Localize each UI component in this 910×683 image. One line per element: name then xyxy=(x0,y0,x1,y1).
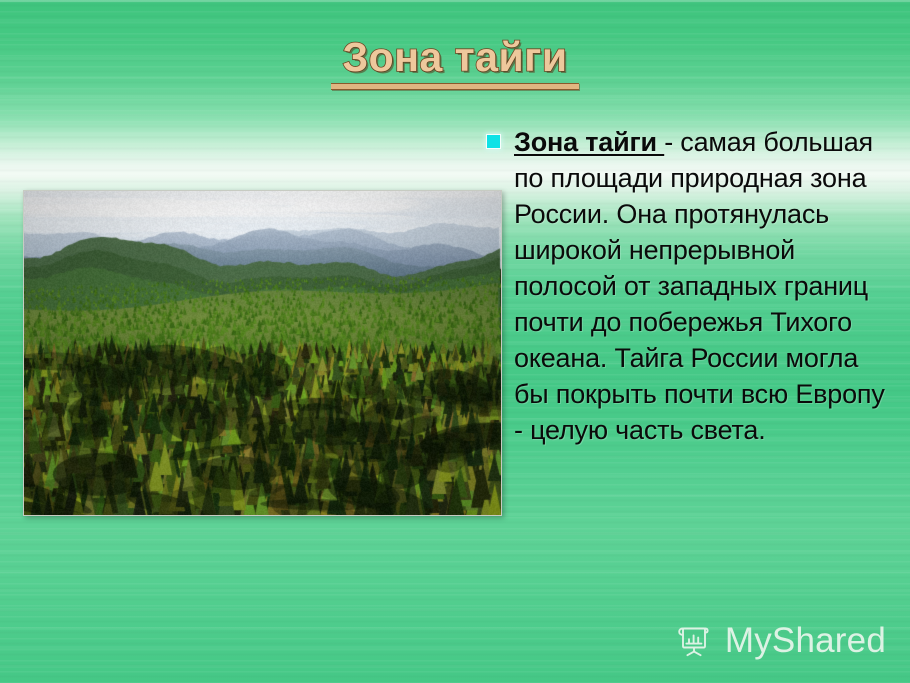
flipchart-bar-chart-icon xyxy=(674,618,714,663)
taiga-photo-canvas xyxy=(24,191,501,515)
watermark-label: MyShared xyxy=(725,623,886,658)
body-rest: - самая большая по площади природная зон… xyxy=(514,127,885,445)
page-title: Зона тайги xyxy=(338,36,571,81)
watermark: MyShared xyxy=(674,618,886,663)
body-text-block: Зона тайги - самая большая по площади пр… xyxy=(480,124,898,448)
taiga-photo xyxy=(23,190,502,516)
title-underline xyxy=(331,83,579,90)
body-paragraph: Зона тайги - самая большая по площади пр… xyxy=(480,124,898,448)
lead-phrase: Зона тайги xyxy=(514,127,664,157)
slide-title-block: Зона тайги xyxy=(0,36,910,90)
presentation-slide: Зона тайги Зона тайги - самая большая по… xyxy=(0,0,910,683)
square-bullet-icon xyxy=(487,135,500,148)
